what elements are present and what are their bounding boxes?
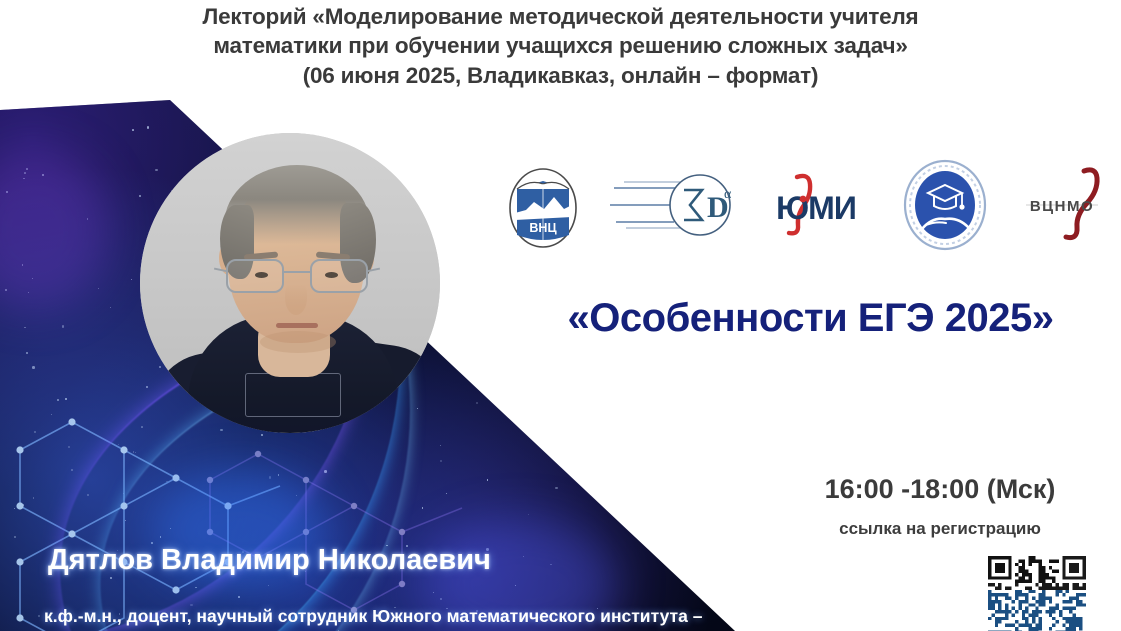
sigma-d-alpha-logo: D α	[607, 155, 742, 255]
glasses-lens	[310, 259, 368, 293]
glasses-bridge	[284, 271, 310, 273]
page-title: «Особенности ЕГЭ 2025»	[500, 296, 1121, 341]
header-line-1: Лекторий «Моделирование методической дея…	[0, 0, 1121, 31]
header-line-2: математики при обучении учащихся решению…	[0, 31, 1121, 60]
vcnmo-logo: ВЦНМО	[1008, 155, 1120, 255]
portrait-shirt-print	[245, 373, 341, 417]
registration-link-label[interactable]: ссылка на регистрацию	[790, 519, 1090, 539]
svg-text:α: α	[724, 187, 732, 202]
event-time: 16:00 -18:00 (Мск)	[790, 474, 1090, 505]
header-line-3: (06 июня 2025, Владикавказ, онлайн – фор…	[0, 61, 1121, 90]
speaker-portrait	[140, 133, 440, 433]
portrait-chin	[260, 331, 336, 353]
svg-text:ЮМИ: ЮМИ	[776, 190, 856, 226]
portrait-glasses	[222, 259, 372, 299]
svg-text:ВНЦ: ВНЦ	[529, 221, 557, 235]
event-header: Лекторий «Моделирование методической дея…	[0, 0, 1121, 100]
svg-text:ВЦНМО: ВЦНМО	[1030, 198, 1094, 215]
qr-code[interactable]	[988, 556, 1086, 631]
graduation-hand-logo	[895, 155, 995, 255]
vnc-logo: ВНЦ	[495, 155, 590, 255]
portrait-mouth	[276, 323, 318, 328]
yumi-logo: ЮМИ	[763, 155, 873, 255]
speaker-description: к.ф.-м.н., доцент, научный сотрудник Южн…	[44, 606, 702, 627]
speaker-name: Дятлов Владимир Николаевич	[48, 544, 491, 577]
partner-logos: ВНЦ D α ЮМИ	[495, 155, 1120, 255]
glasses-lens	[226, 259, 284, 293]
